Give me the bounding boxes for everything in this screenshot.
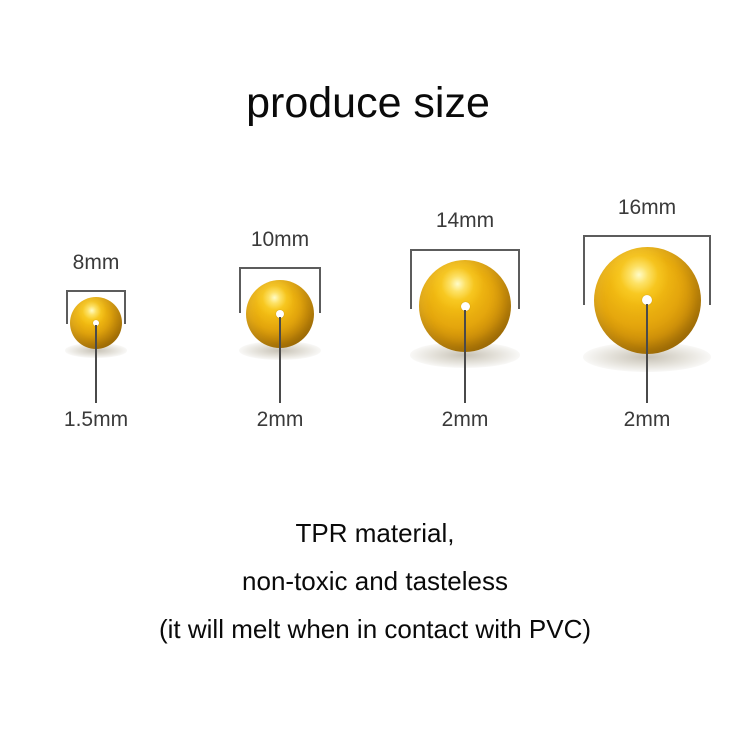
product-size-infographic: produce size 8mm1.5mm10mm2mm14mm2mm16mm2… [0, 0, 750, 750]
size-label: 14mm [395, 209, 535, 233]
hole-leader-line [95, 325, 97, 403]
hole-leader-line [464, 310, 466, 403]
hole-size-label: 2mm [395, 408, 535, 432]
note-line-1: TPR material, [0, 518, 750, 548]
page-title: produce size [0, 78, 743, 128]
hole-size-label: 1.5mm [26, 408, 166, 432]
size-label: 10mm [210, 228, 350, 252]
size-label: 16mm [577, 196, 717, 220]
hole-leader-line [646, 304, 648, 403]
hole-size-label: 2mm [577, 408, 717, 432]
size-label: 8mm [26, 251, 166, 275]
hole-size-label: 2mm [210, 408, 350, 432]
note-line-3: (it will melt when in contact with PVC) [0, 614, 750, 644]
hole-leader-line [279, 317, 281, 403]
note-line-2: non-toxic and tasteless [0, 566, 750, 596]
